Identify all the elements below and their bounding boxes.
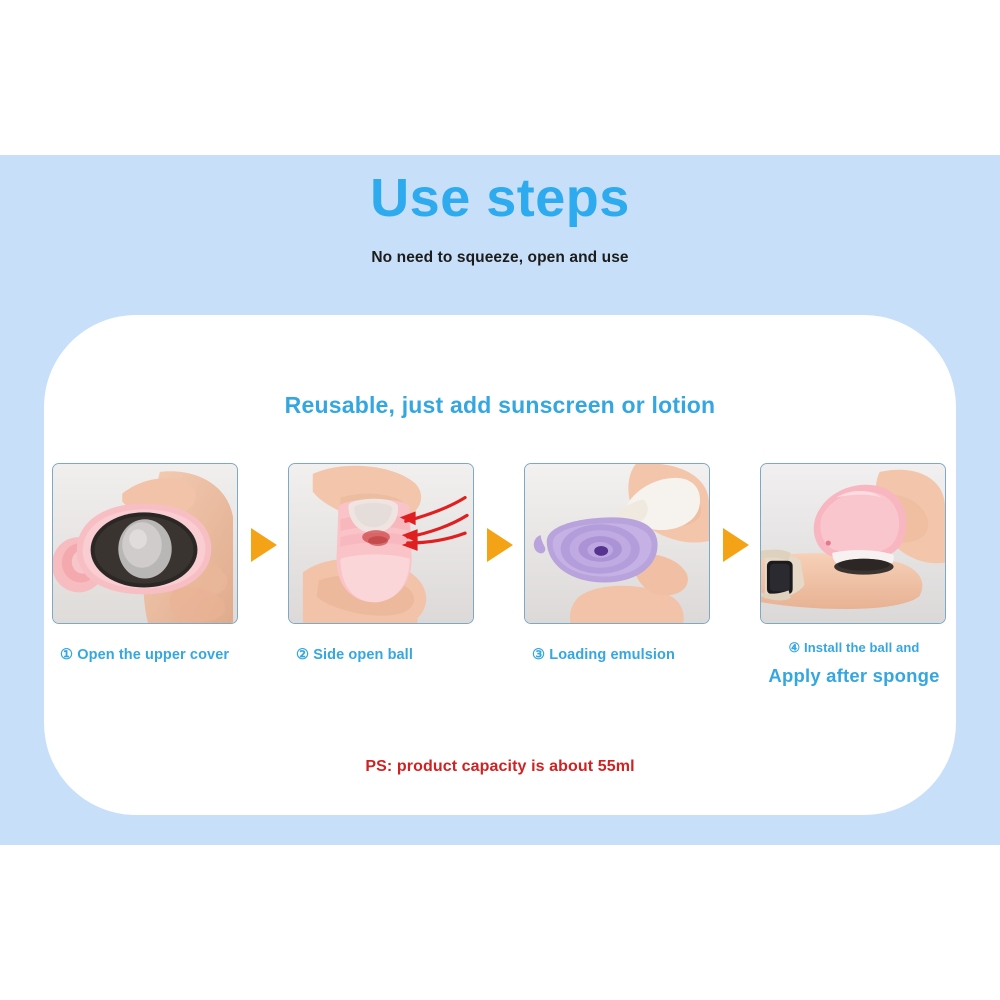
step-4-line1: ④ Install the ball and [760,639,948,657]
step-4: ④ Install the ball and Apply after spong… [760,463,948,689]
step-4-label-line1: Install the ball and [804,640,919,655]
step-3-number: ③ [532,647,545,663]
capacity-note: PS: product capacity is about 55ml [44,758,956,776]
step-1-label: Open the upper cover [77,647,229,663]
step-4-caption: ④ Install the ball and Apply after spong… [760,639,948,689]
step-4-number: ④ [789,640,801,655]
card-title: Reusable, just add sunscreen or lotion [44,392,956,419]
step-2: ② Side open ball [288,463,476,666]
photo-open-upper-cover [52,463,238,624]
photo-loading-emulsion [524,463,710,624]
step-1-caption: ① Open the upper cover [52,646,240,666]
photo-side-open-ball [288,463,474,624]
header-block: Use steps No need to squeeze, open and u… [0,170,1000,267]
arrow-2-3 [476,463,524,626]
step-2-number: ② [296,647,309,663]
step-3-caption: ③ Loading emulsion [524,646,712,666]
page-title: Use steps [0,170,1000,227]
step-2-caption: ② Side open ball [288,646,476,666]
steps-card: Reusable, just add sunscreen or lotion [44,315,956,815]
triangle-right-icon [251,528,277,562]
steps-row: ① Open the upper cover [44,463,956,689]
step-1-number: ① [60,647,73,663]
page-subtitle: No need to squeeze, open and use [0,249,1000,267]
arrow-1-2 [240,463,288,626]
photo-apply-after-sponge [760,463,946,624]
step-2-label: Side open ball [313,647,413,663]
step-1: ① Open the upper cover [52,463,240,666]
step-3: ③ Loading emulsion [524,463,712,666]
triangle-right-icon [487,528,513,562]
triangle-right-icon [723,528,749,562]
step-4-label-line2: Apply after sponge [760,664,948,689]
step-3-label: Loading emulsion [549,647,675,663]
arrow-3-4 [712,463,760,626]
infographic-stage: Use steps No need to squeeze, open and u… [0,0,1000,1000]
